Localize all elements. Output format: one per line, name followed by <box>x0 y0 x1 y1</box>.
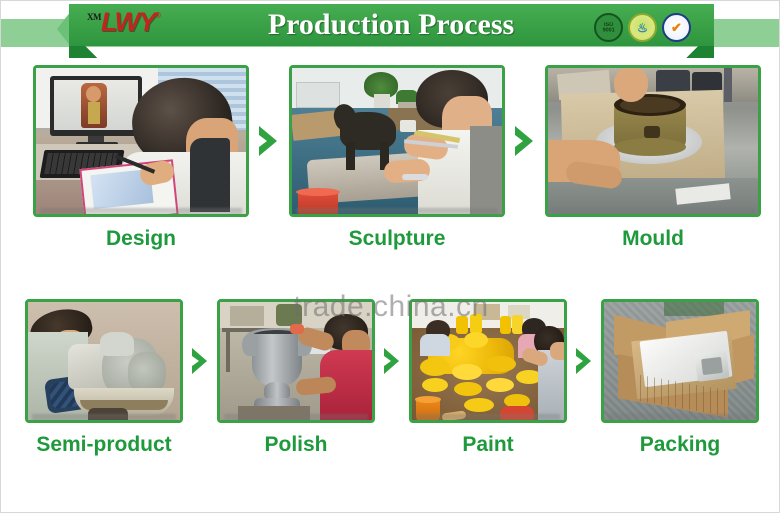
caption-mould: Mould <box>622 227 684 251</box>
arrow-polish-to-paint <box>375 299 409 423</box>
process-step-sculpture: Sculpture <box>289 65 505 251</box>
caption-design: Design <box>106 227 176 251</box>
process-step-mould: Mould <box>545 65 761 251</box>
process-step-paint: Paint <box>409 299 567 457</box>
photo-polish <box>217 299 375 423</box>
process-row-2: Semi-product <box>1 299 780 509</box>
environment-certification-badge: ♨ <box>628 13 657 42</box>
arrow-semi-product-to-polish <box>183 299 217 423</box>
caption-sculpture: Sculpture <box>349 227 446 251</box>
photo-semi-product <box>25 299 183 423</box>
arrow-design-to-sculpture <box>249 65 289 217</box>
photo-packing <box>601 299 759 423</box>
photo-design <box>33 65 249 217</box>
iso-certification-badge: ISO9001 <box>594 13 623 42</box>
header-banner: XM LWY ® Production Process ISO9001 ♨ ✔ <box>1 1 780 59</box>
production-process-banner: XM LWY ® Production Process ISO9001 ♨ ✔ <box>0 0 780 513</box>
process-step-polish: Polish <box>217 299 375 457</box>
ribbon-left-fold <box>69 46 113 58</box>
photo-sculpture <box>289 65 505 217</box>
logo-prefix-text: XM <box>87 13 101 22</box>
caption-semi-product: Semi-product <box>36 433 171 457</box>
process-step-design: Design <box>33 65 249 251</box>
photo-mould <box>545 65 761 217</box>
caption-paint: Paint <box>462 433 513 457</box>
caption-packing: Packing <box>640 433 721 457</box>
ribbon-right-fold <box>670 46 714 58</box>
photo-paint <box>409 299 567 423</box>
certification-badges: ISO9001 ♨ ✔ <box>594 13 691 42</box>
checkmark-icon: ✔ <box>671 21 682 34</box>
process-grid: Design <box>1 59 780 513</box>
process-step-packing: Packing <box>601 299 759 457</box>
logo-name-text: LWY <box>101 9 155 36</box>
arrow-sculpture-to-mould <box>505 65 545 217</box>
arrow-paint-to-packing <box>567 299 601 423</box>
company-logo: XM LWY ® <box>87 9 161 41</box>
leaf-icon: ♨ <box>637 22 648 34</box>
caption-polish: Polish <box>264 433 327 457</box>
quality-certification-badge: ✔ <box>662 13 691 42</box>
logo-registered-icon: ® <box>155 11 161 20</box>
process-row-1: Design <box>1 65 780 290</box>
process-step-semi-product: Semi-product <box>25 299 183 457</box>
